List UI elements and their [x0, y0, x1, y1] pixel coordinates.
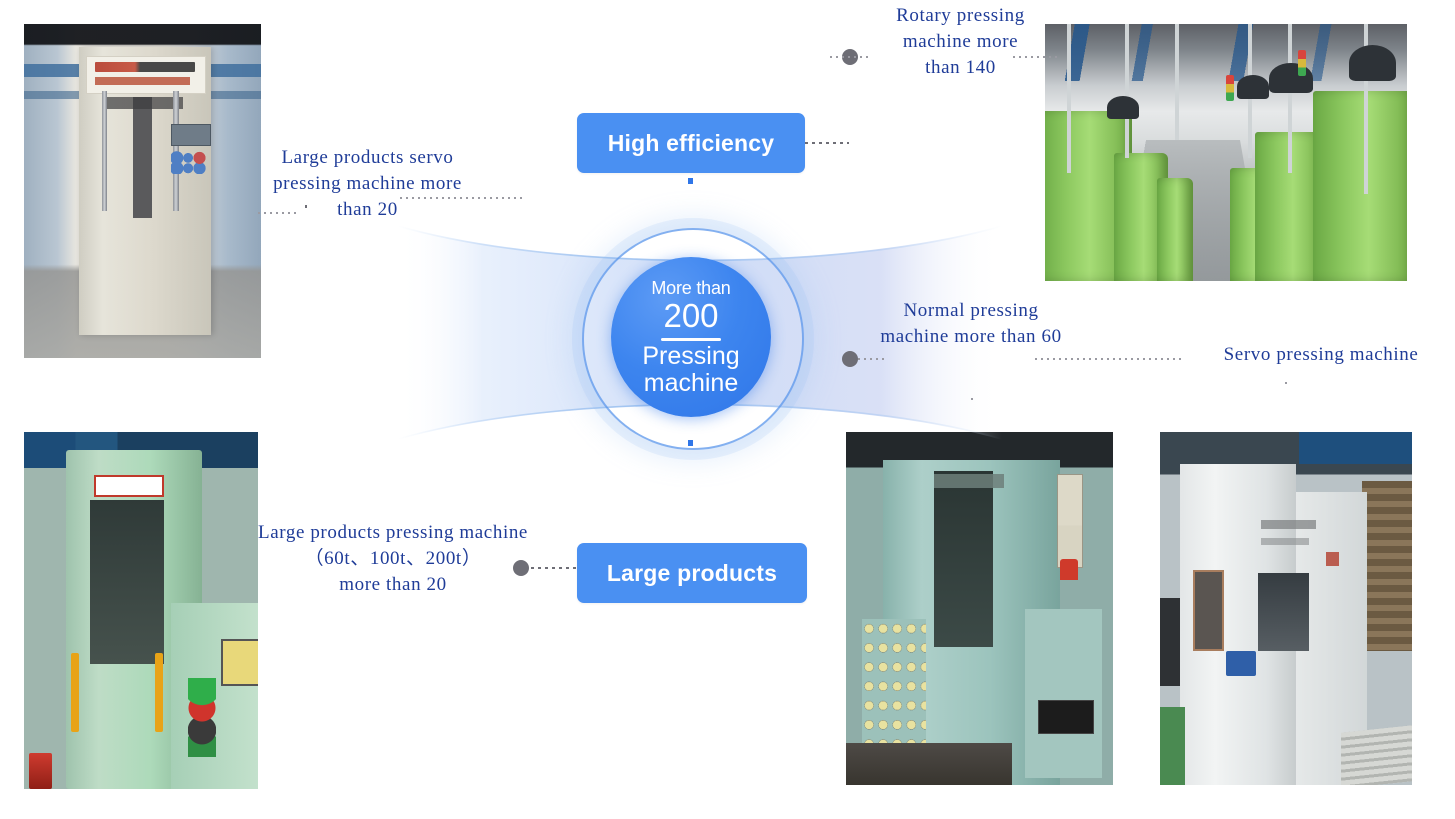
connector-center-bottom [688, 440, 693, 540]
connector-drop-servo-right [1285, 382, 1287, 434]
photo-tamagawa-press-machine [24, 432, 258, 789]
center-category-label: Pressing machine [611, 343, 771, 397]
connector-normal-label-left [858, 358, 888, 360]
connector-rotary-label-left [830, 56, 870, 58]
infographic-canvas: More than 200 Pressing machine High effi… [0, 0, 1455, 819]
connector-large-products-vertical [520, 197, 522, 569]
large-products-button[interactable]: Large products [577, 543, 807, 603]
photo-servo-pressing-machine [24, 24, 261, 358]
node-normal [842, 351, 858, 367]
high-efficiency-button[interactable]: High efficiency [577, 113, 805, 173]
callout-normal-pressing: Normal pressing machine more than 60 [876, 298, 1066, 350]
center-number: 200 [663, 299, 718, 333]
photo-yoshizuka-press-machine [846, 432, 1113, 785]
connector-high-efficiency-to-node [805, 142, 849, 144]
connector-normal-to-servo-label [1035, 358, 1185, 360]
connector-servo-large-vertical [305, 205, 307, 365]
center-stat-circle: More than 200 Pressing machine [611, 257, 771, 417]
callout-rotary-pressing: Rotary pressing machine more than 140 [893, 3, 1028, 81]
callout-large-products-pressing: Large products pressing machine （60t、100… [258, 520, 528, 598]
connector-right-vertical [849, 57, 851, 362]
callout-servo-pressing-machine: Servo pressing machine [1192, 342, 1450, 368]
center-divider-rule [661, 338, 721, 341]
center-more-than-label: More than [651, 278, 730, 298]
connector-node-to-large-pill [531, 567, 577, 569]
callout-servo-large-products: Large products servo pressing machine mo… [270, 145, 465, 223]
connector-drop-yoshizuka [971, 398, 973, 434]
connector-center-top [688, 178, 693, 232]
photo-cnc-servo-press-cabinet [1160, 432, 1412, 785]
photo-rotary-pressing-machines [1045, 24, 1407, 281]
